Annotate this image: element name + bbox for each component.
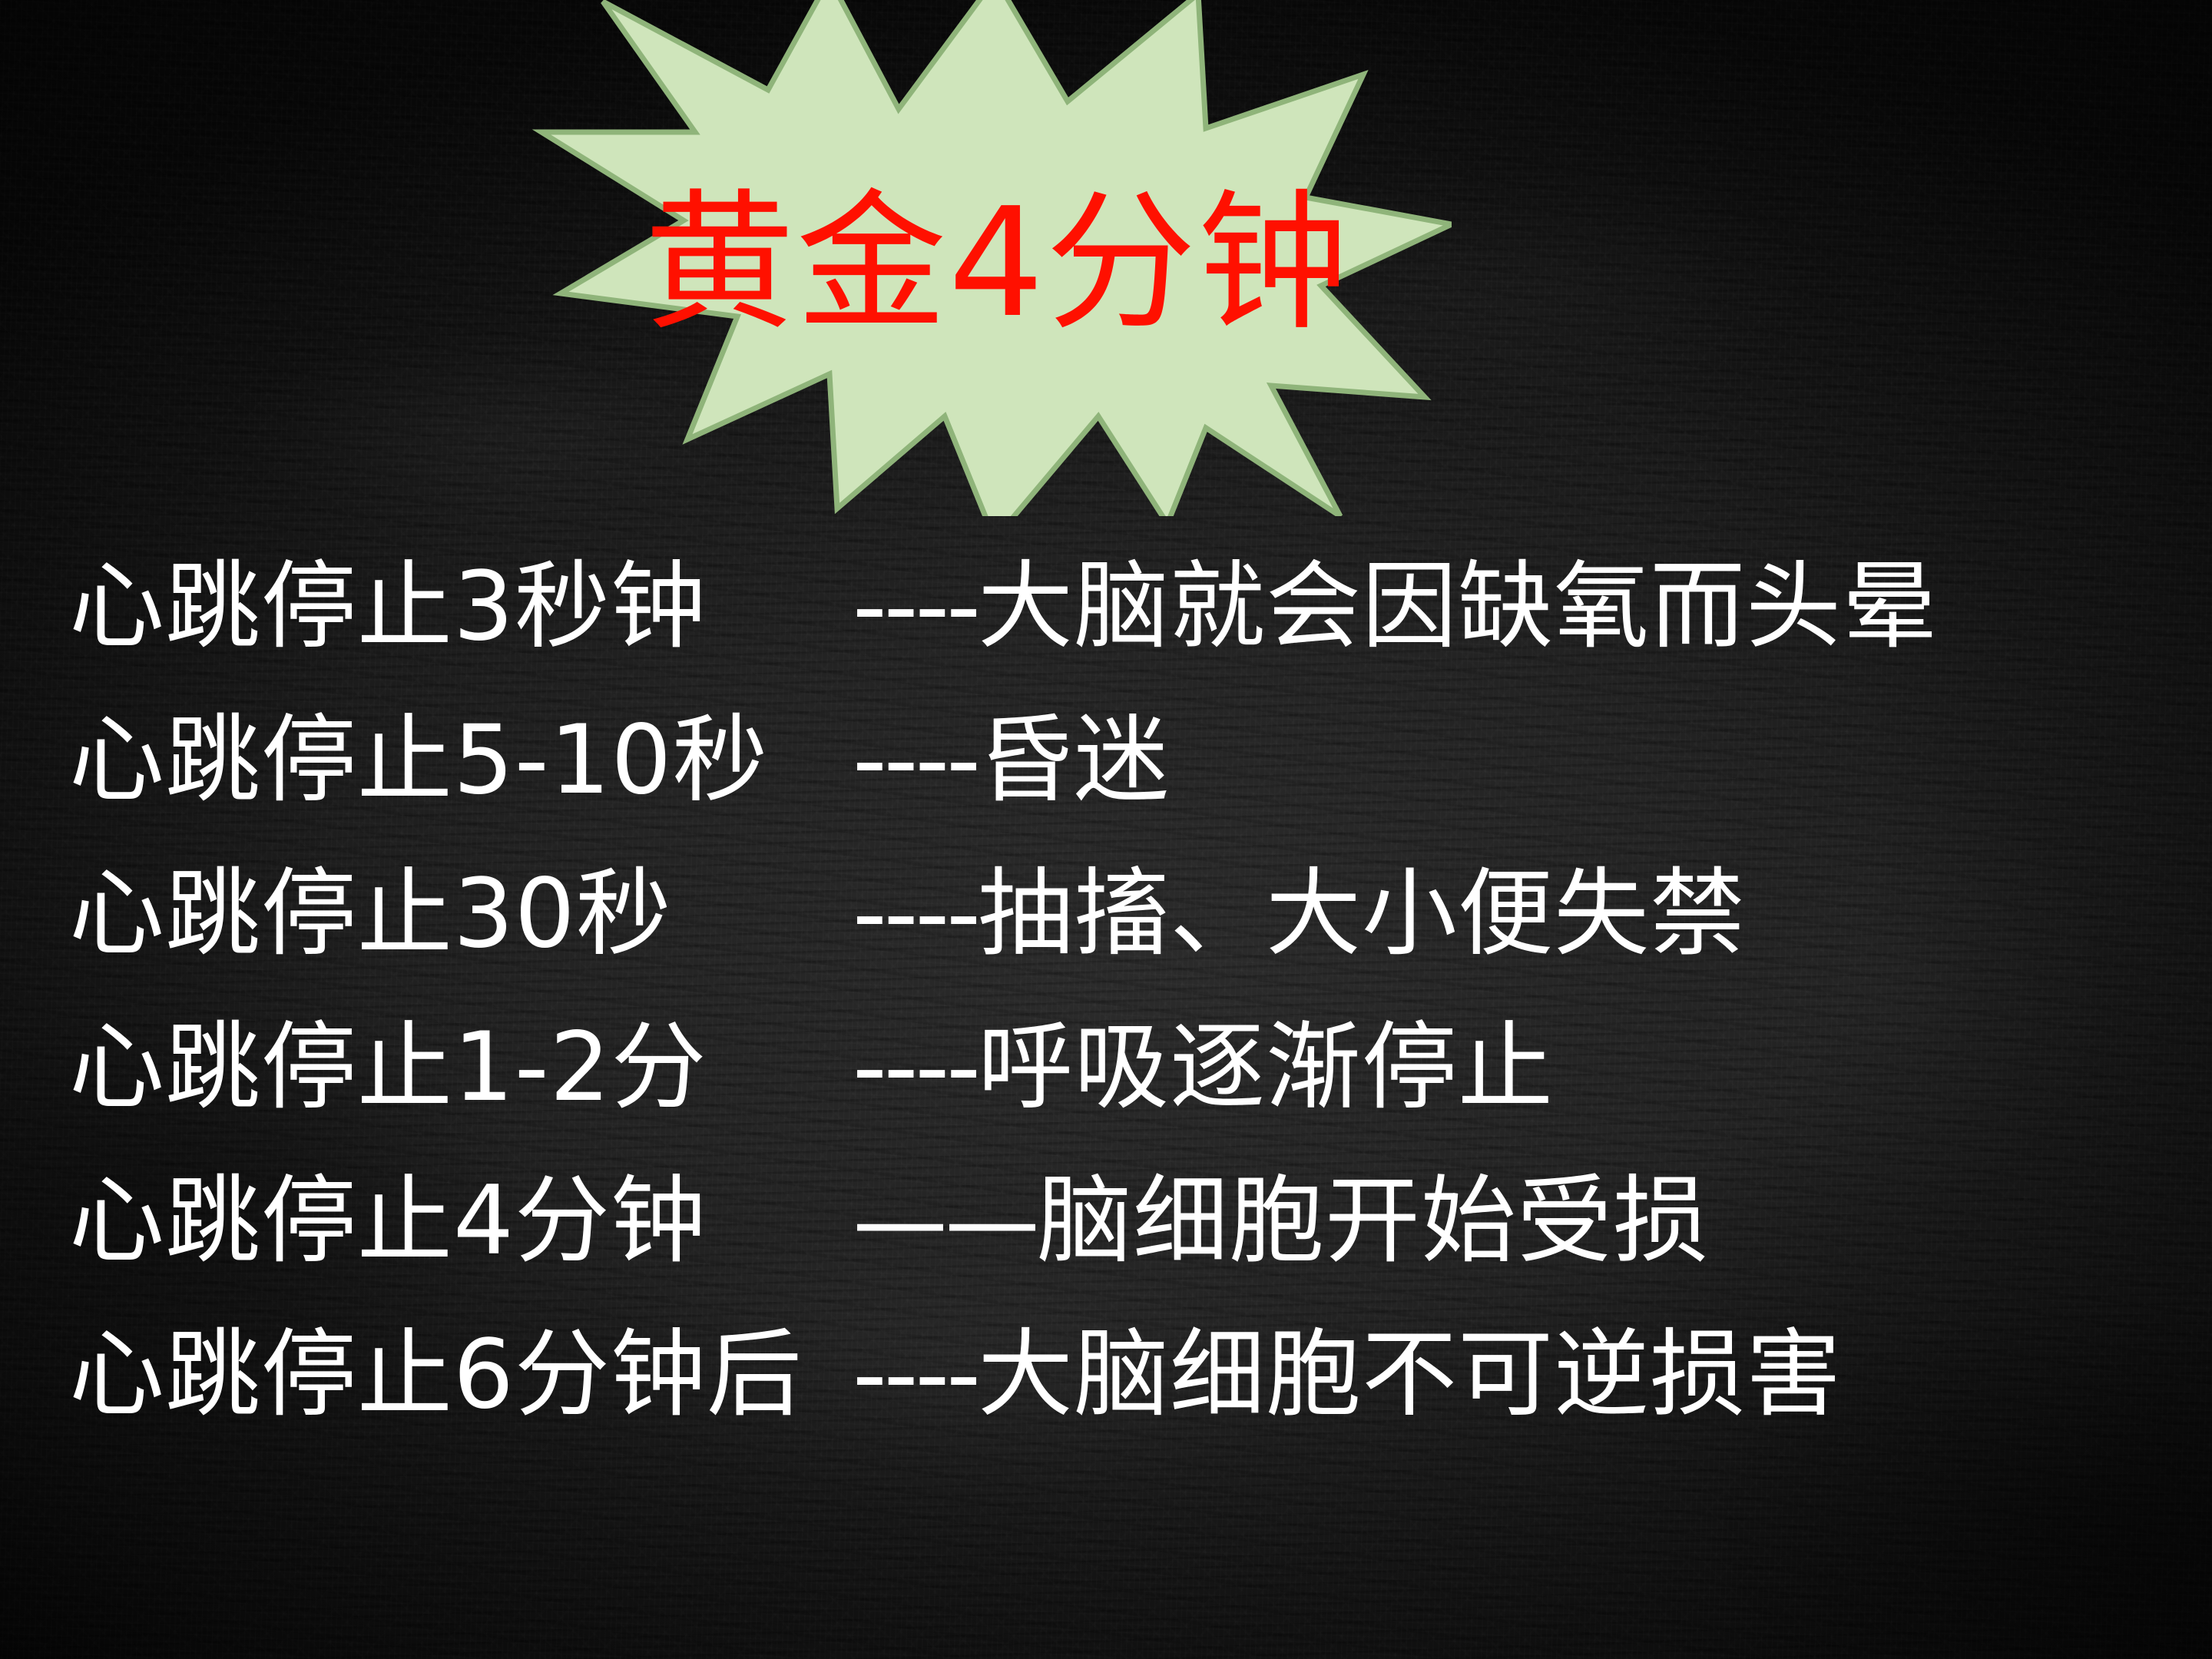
slide-canvas: 黄金4分钟 心跳停止3秒钟 ----大脑就会因缺氧而头晕 心跳停止5-10秒 -… — [0, 0, 2212, 1659]
table-row: 心跳停止5-10秒 ----昏迷 — [0, 684, 2212, 837]
row-effect: ----大脑就会因缺氧而头晕 — [853, 530, 2212, 684]
table-row: 心跳停止30秒 ----抽搐、大小便失禁 — [0, 837, 2212, 991]
table-row: 心跳停止6分钟后 ----大脑细胞不可逆损害 — [0, 1298, 2212, 1452]
row-condition: 心跳停止6分钟后 — [0, 1298, 853, 1452]
fact-row-list: 心跳停止3秒钟 ----大脑就会因缺氧而头晕 心跳停止5-10秒 ----昏迷 … — [0, 530, 2212, 1452]
row-effect-text: 抽搐、大小便失禁 — [978, 859, 1746, 969]
row-effect-text: 大脑就会因缺氧而头晕 — [978, 551, 1938, 662]
row-condition: 心跳停止30秒 — [0, 837, 853, 991]
row-effect-text: 昏迷 — [978, 705, 1170, 816]
title-starburst-banner: 黄金4分钟 — [530, 0, 1452, 516]
title-text-block: 黄金4分钟 — [530, 0, 1452, 516]
row-effect: ----呼吸逐渐停止 — [853, 991, 2212, 1144]
row-dash: ---- — [853, 1012, 978, 1123]
row-dash: ---- — [853, 705, 978, 816]
table-row: 心跳停止1-2分 ----呼吸逐渐停止 — [0, 991, 2212, 1144]
row-effect: ----大脑细胞不可逆损害 — [853, 1298, 2212, 1452]
row-condition: 心跳停止5-10秒 — [0, 684, 853, 837]
table-row: 心跳停止4分钟 ——脑细胞开始受损 — [0, 1144, 2212, 1298]
row-effect-text: 脑细胞开始受损 — [1037, 1166, 1709, 1277]
row-effect-text: 呼吸逐渐停止 — [978, 1012, 1554, 1123]
row-effect: ----昏迷 — [853, 684, 2212, 837]
row-dash: ---- — [853, 551, 978, 662]
row-condition: 心跳停止3秒钟 — [0, 530, 853, 684]
row-dash: ---- — [853, 1320, 978, 1430]
row-effect: ----抽搐、大小便失禁 — [853, 837, 2212, 991]
title-text: 黄金4分钟 — [644, 188, 1350, 339]
row-dash: —— — [853, 1166, 1037, 1277]
row-effect: ——脑细胞开始受损 — [853, 1144, 2212, 1298]
row-condition: 心跳停止4分钟 — [0, 1144, 853, 1298]
row-condition: 心跳停止1-2分 — [0, 991, 853, 1144]
row-dash: ---- — [853, 859, 978, 969]
table-row: 心跳停止3秒钟 ----大脑就会因缺氧而头晕 — [0, 530, 2212, 684]
row-effect-text: 大脑细胞不可逆损害 — [978, 1320, 1842, 1430]
